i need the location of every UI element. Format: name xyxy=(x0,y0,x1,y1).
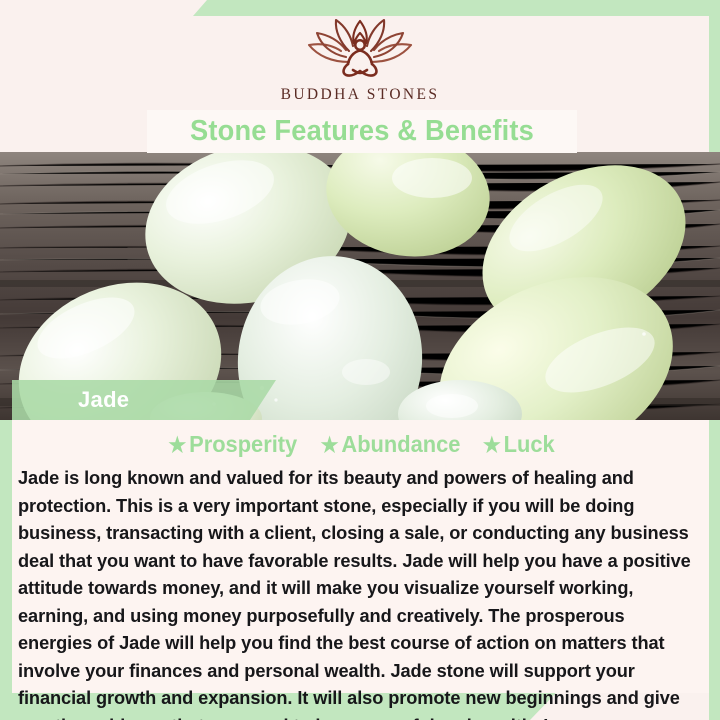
stone-features-poster: BUDDHA STONES Stone Features & Benefits xyxy=(0,0,720,720)
star-icon: ★ xyxy=(168,434,186,457)
benefit-item: ★Luck xyxy=(482,431,554,458)
benefit-item: ★Abundance xyxy=(321,431,461,458)
benefit-label: Luck xyxy=(503,431,554,457)
title-band: Stone Features & Benefits xyxy=(147,110,577,153)
page-title: Stone Features & Benefits xyxy=(190,115,534,148)
jade-stones-illustration xyxy=(0,152,720,420)
description-panel: ★Prosperity ★Abundance ★Luck Jade is lon… xyxy=(12,420,709,693)
brand-name: BUDDHA STONES xyxy=(0,86,720,104)
brand-logo: BUDDHA STONES xyxy=(0,14,720,104)
hero-stone-photo xyxy=(0,152,720,420)
lotus-meditation-figure-icon xyxy=(301,14,419,84)
benefit-item: ★Prosperity xyxy=(168,431,297,458)
benefit-label: Abundance xyxy=(341,431,460,457)
star-icon: ★ xyxy=(321,434,339,457)
description-text: Jade is long known and valued for its be… xyxy=(18,464,692,720)
stone-name-ribbon: Jade xyxy=(12,380,276,420)
star-icon: ★ xyxy=(482,434,500,457)
benefits-row: ★Prosperity ★Abundance ★Luck xyxy=(12,431,709,458)
stone-name-label: Jade xyxy=(78,387,129,413)
benefit-label: Prosperity xyxy=(189,431,297,457)
